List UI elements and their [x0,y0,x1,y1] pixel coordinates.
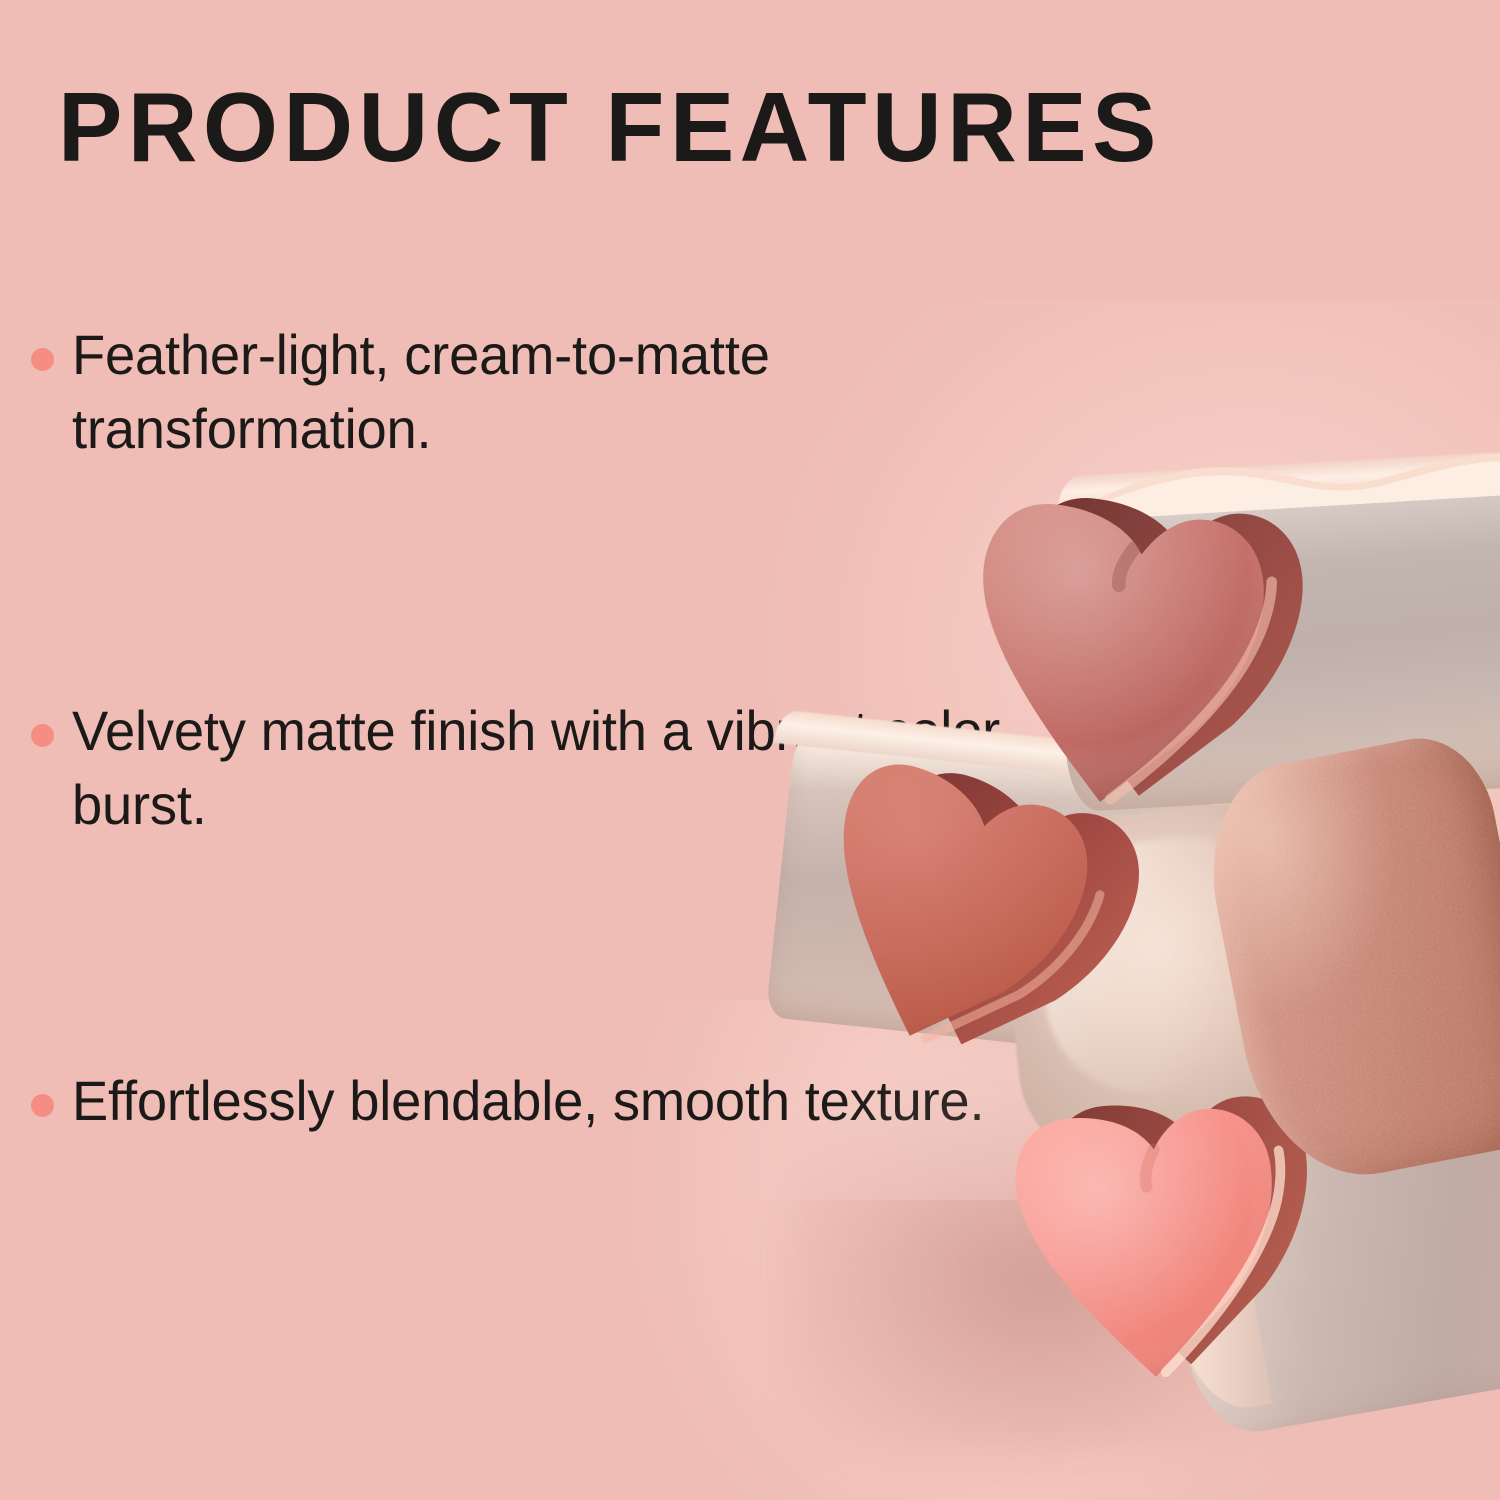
bullet-dot-icon [31,348,54,371]
bullet-dot-icon [31,724,54,747]
product-photo [760,410,1500,1500]
page-title: PRODUCT FEATURES [58,78,1162,176]
product-feature-banner: PRODUCT FEATURES Feather-light, cream-to… [0,0,1500,1500]
bullet-dot-icon [31,1094,54,1117]
